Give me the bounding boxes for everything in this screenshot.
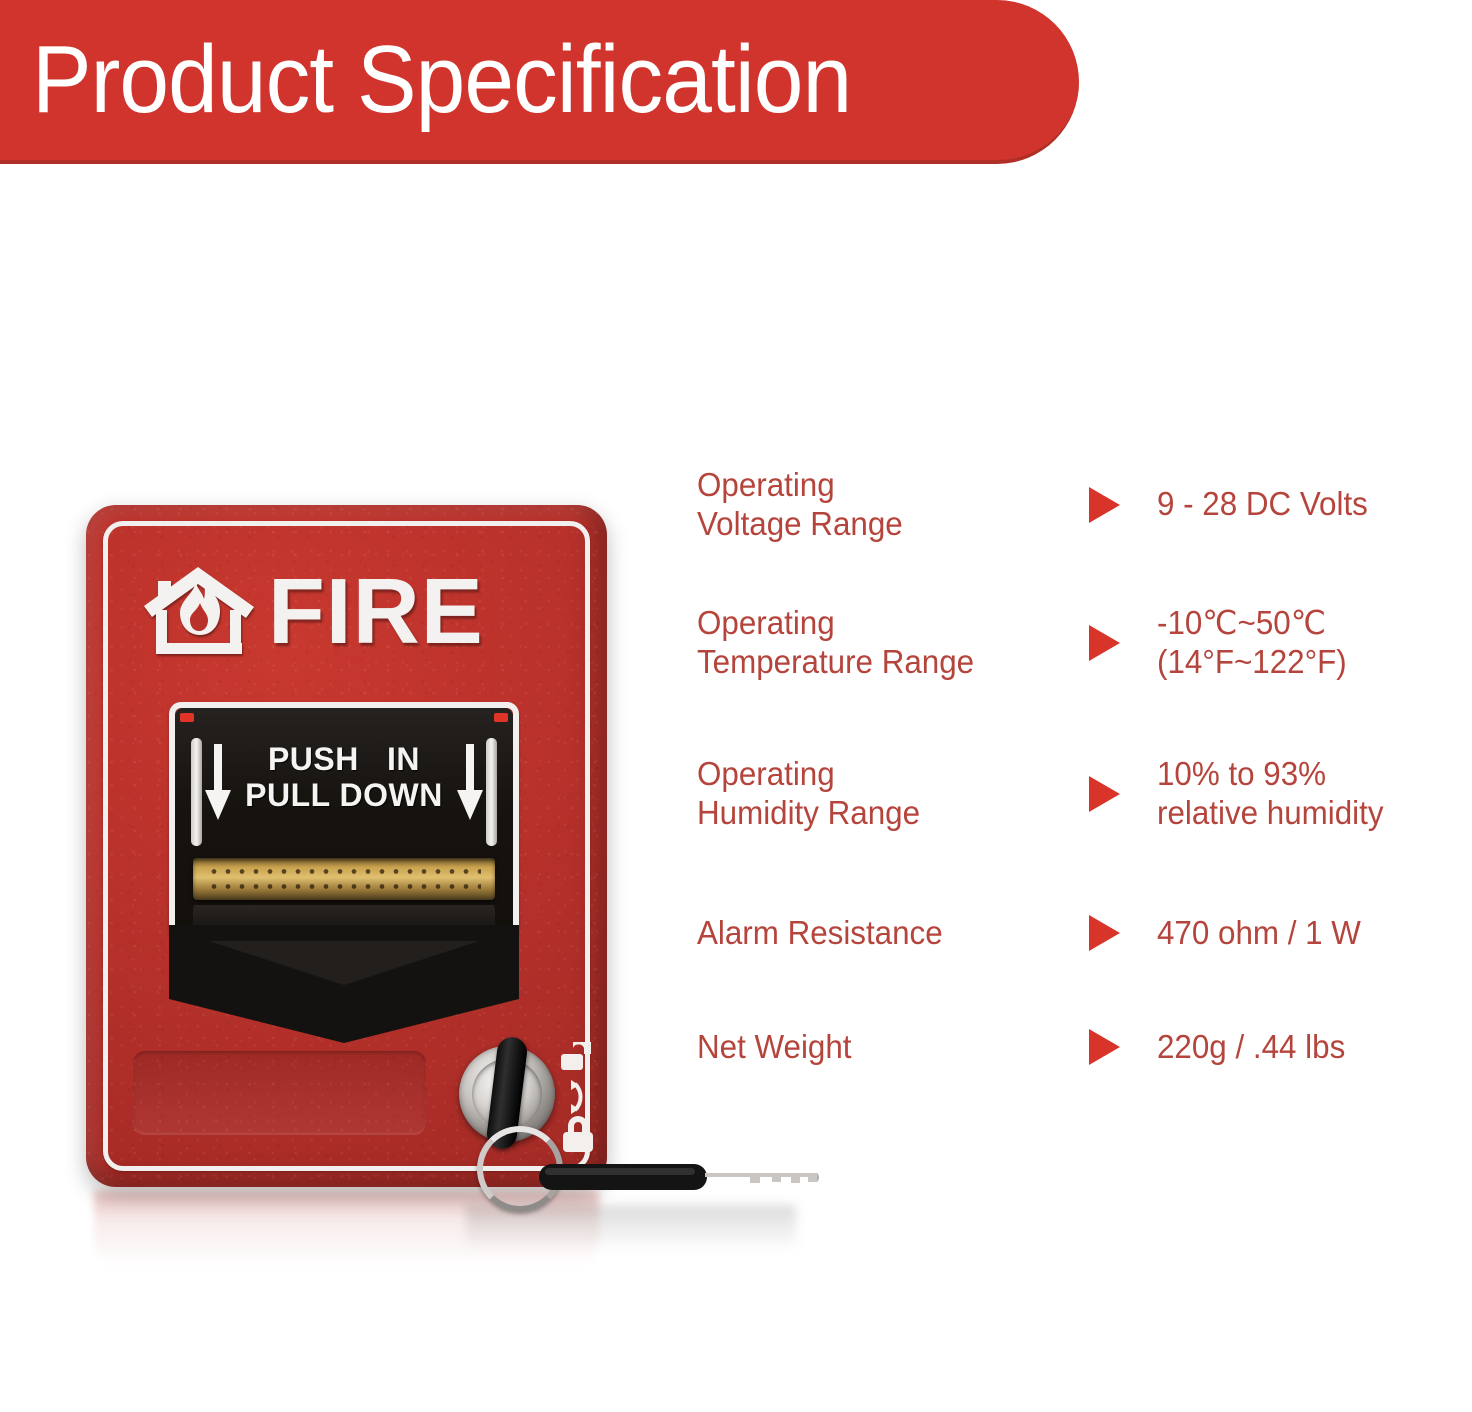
spec-value: 9 - 28 DC Volts bbox=[1157, 485, 1442, 524]
product-image: FIRE PUSH IN PULL DOWN bbox=[86, 505, 616, 1265]
spec-row-temperature: Operating Temperature Range -10℃~50℃ (14… bbox=[697, 604, 1457, 681]
spec-label: Operating Voltage Range bbox=[697, 466, 1069, 543]
lock-state-icons bbox=[555, 1034, 607, 1158]
led-indicator-right bbox=[494, 713, 508, 722]
lever-instructions: PUSH IN PULL DOWN bbox=[175, 742, 513, 814]
lever-shield bbox=[169, 925, 519, 1043]
fire-label: FIRE bbox=[268, 565, 484, 658]
house-on-fire-icon bbox=[142, 563, 260, 659]
spec-value: 470 ohm / 1 W bbox=[1157, 914, 1442, 953]
spec-label: Net Weight bbox=[697, 1028, 1069, 1067]
braille-dots bbox=[207, 864, 481, 894]
triangle-right-icon bbox=[1089, 625, 1157, 661]
spec-row-alarm-resistance: Alarm Resistance 470 ohm / 1 W bbox=[697, 914, 1457, 953]
triangle-right-icon bbox=[1089, 487, 1157, 523]
spec-label: Operating Humidity Range bbox=[697, 755, 1069, 832]
padlock-closed-icon bbox=[563, 1116, 593, 1152]
rotate-arrow-icon bbox=[571, 1080, 581, 1114]
blank-label-panel bbox=[133, 1051, 426, 1135]
key-icon[interactable] bbox=[533, 1156, 833, 1196]
spec-label: Alarm Resistance bbox=[697, 914, 1069, 953]
spec-row-voltage: Operating Voltage Range 9 - 28 DC Volts bbox=[697, 466, 1457, 543]
padlock-open-icon bbox=[561, 1042, 591, 1070]
lever-line-2: PULL DOWN bbox=[175, 778, 513, 814]
triangle-right-icon bbox=[1089, 1029, 1157, 1065]
page-title: Product Specification bbox=[32, 32, 851, 128]
device-branding: FIRE bbox=[142, 563, 484, 659]
triangle-right-icon bbox=[1089, 776, 1157, 812]
fire-alarm-pull-station: FIRE PUSH IN PULL DOWN bbox=[86, 505, 607, 1187]
spec-row-net-weight: Net Weight 220g / .44 lbs bbox=[697, 1028, 1457, 1067]
key-reflection bbox=[466, 1205, 796, 1251]
spec-label: Operating Temperature Range bbox=[697, 604, 1069, 681]
lever-line-1: PUSH IN bbox=[175, 742, 513, 778]
pull-lever: PUSH IN PULL DOWN bbox=[175, 708, 513, 940]
product-specification-page: Product Specification bbox=[0, 0, 1472, 1412]
spec-value: -10℃~50℃ (14°F~122°F) bbox=[1157, 604, 1442, 681]
spec-row-humidity: Operating Humidity Range 10% to 93% rela… bbox=[697, 755, 1457, 832]
spec-value: 220g / .44 lbs bbox=[1157, 1028, 1442, 1067]
led-indicator-left bbox=[180, 713, 194, 722]
triangle-right-icon bbox=[1089, 915, 1157, 951]
spec-value: 10% to 93% relative humidity bbox=[1157, 755, 1442, 832]
lever-shield-shape bbox=[169, 925, 519, 1043]
header-banner: Product Specification bbox=[0, 0, 1079, 164]
braille-strip bbox=[193, 858, 495, 900]
